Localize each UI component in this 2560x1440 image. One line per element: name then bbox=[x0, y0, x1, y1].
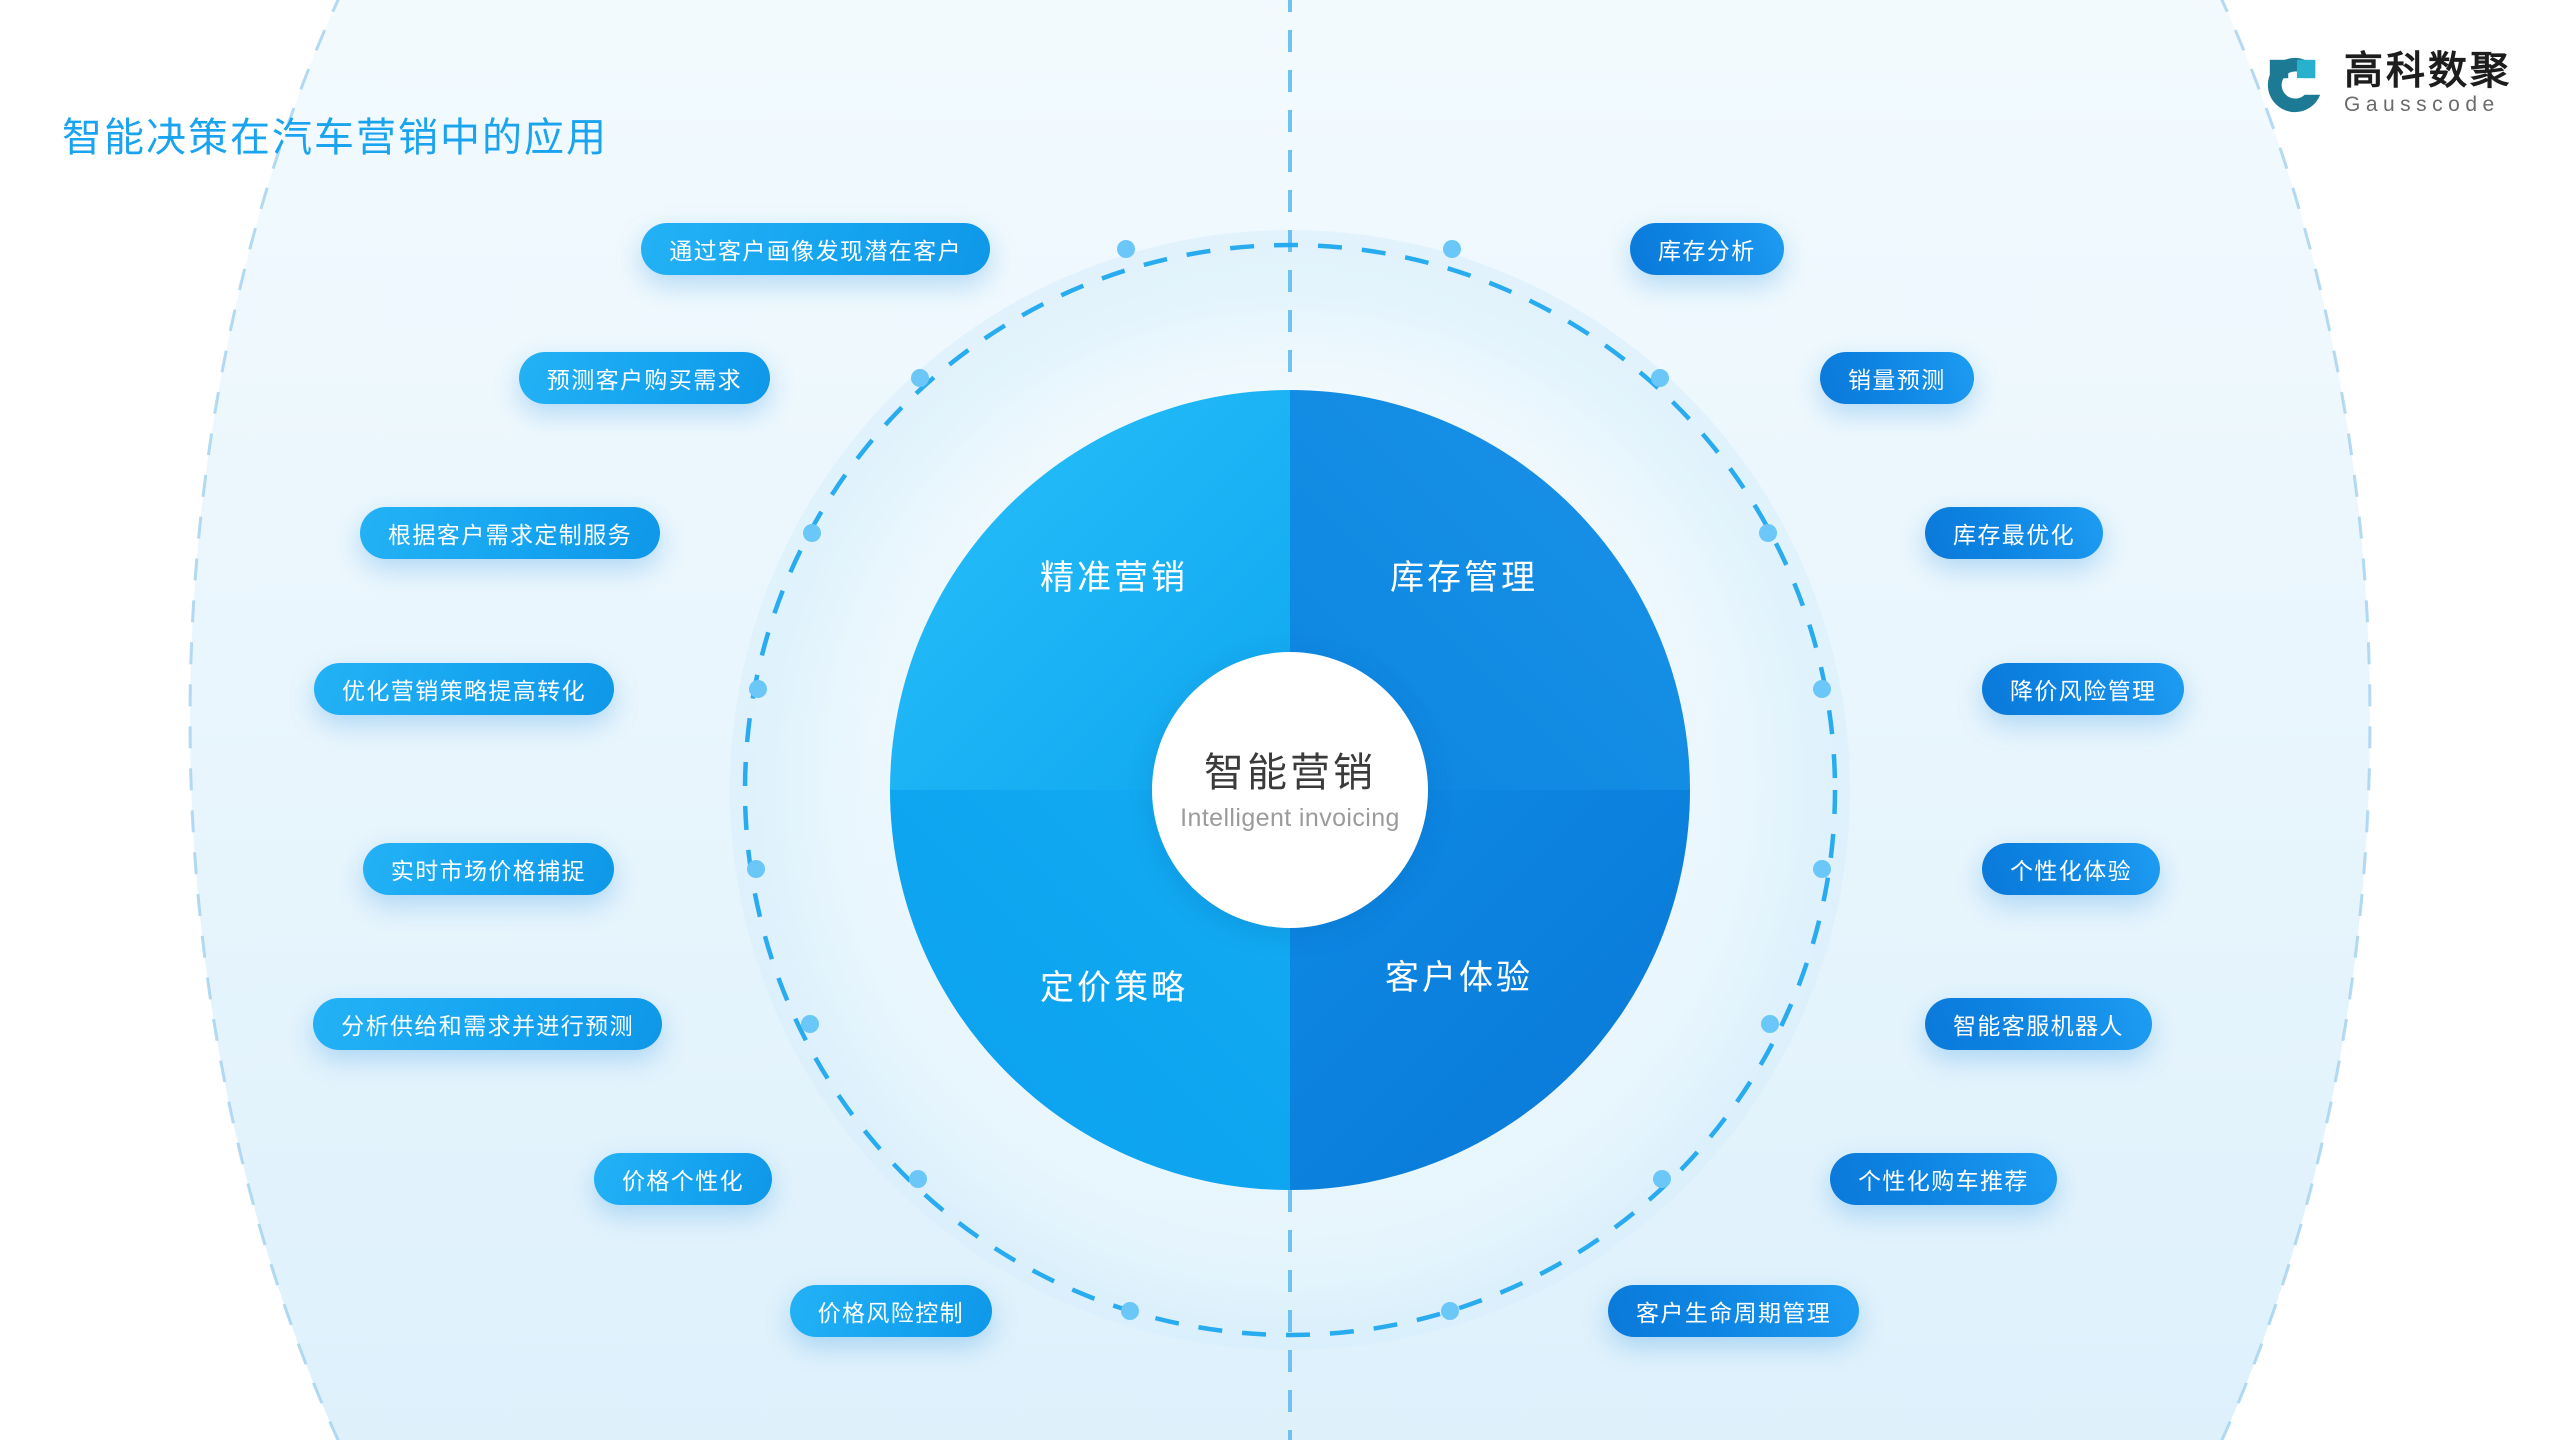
quadrant-label-pricing-strategy[interactable]: 定价策略 bbox=[1040, 960, 1188, 1009]
right-item-6[interactable]: 个性化购车推荐 bbox=[1830, 1153, 2057, 1205]
left-item-5[interactable]: 分析供给和需求并进行预测 bbox=[313, 998, 662, 1050]
left-item-1[interactable]: 预测客户购买需求 bbox=[519, 352, 770, 404]
brand-name-en: Gausscode bbox=[2344, 92, 2500, 118]
left-item-6[interactable]: 价格个性化 bbox=[594, 1153, 772, 1205]
left-item-7[interactable]: 价格风险控制 bbox=[790, 1285, 992, 1337]
left-item-2[interactable]: 根据客户需求定制服务 bbox=[360, 507, 660, 559]
quadrant-label-precision-marketing[interactable]: 精准营销 bbox=[1040, 550, 1188, 599]
right-item-1[interactable]: 销量预测 bbox=[1820, 352, 1974, 404]
quadrant-label-inventory-management[interactable]: 库存管理 bbox=[1390, 550, 1538, 599]
hub-title-cn: 智能营销 bbox=[1204, 748, 1376, 798]
right-item-3[interactable]: 降价风险管理 bbox=[1982, 663, 2184, 715]
right-item-0[interactable]: 库存分析 bbox=[1630, 223, 1784, 275]
right-item-4[interactable]: 个性化体验 bbox=[1982, 843, 2160, 895]
right-item-7[interactable]: 客户生命周期管理 bbox=[1608, 1285, 1859, 1337]
infographic-canvas: 智能营销 Intelligent invoicing 精准营销 库存管理 定价策… bbox=[0, 0, 2560, 1440]
page-title: 智能决策在汽车营销中的应用 bbox=[62, 105, 608, 163]
brand-logo-text: 高科数聚 Gausscode bbox=[2344, 52, 2512, 118]
right-item-2[interactable]: 库存最优化 bbox=[1925, 507, 2103, 559]
quadrant-label-customer-experience[interactable]: 客户体验 bbox=[1385, 950, 1533, 999]
hub-title-en: Intelligent invoicing bbox=[1180, 804, 1400, 833]
brand-name-cn: 高科数聚 bbox=[2344, 52, 2512, 92]
gausscode-g-mark-icon bbox=[2264, 54, 2326, 116]
left-item-4[interactable]: 实时市场价格捕捉 bbox=[363, 843, 614, 895]
right-item-5[interactable]: 智能客服机器人 bbox=[1925, 998, 2152, 1050]
hub-circle: 智能营销 Intelligent invoicing bbox=[1152, 652, 1428, 928]
left-item-3[interactable]: 优化营销策略提高转化 bbox=[314, 663, 614, 715]
left-item-0[interactable]: 通过客户画像发现潜在客户 bbox=[641, 223, 990, 275]
brand-logo: 高科数聚 Gausscode bbox=[2264, 52, 2512, 118]
